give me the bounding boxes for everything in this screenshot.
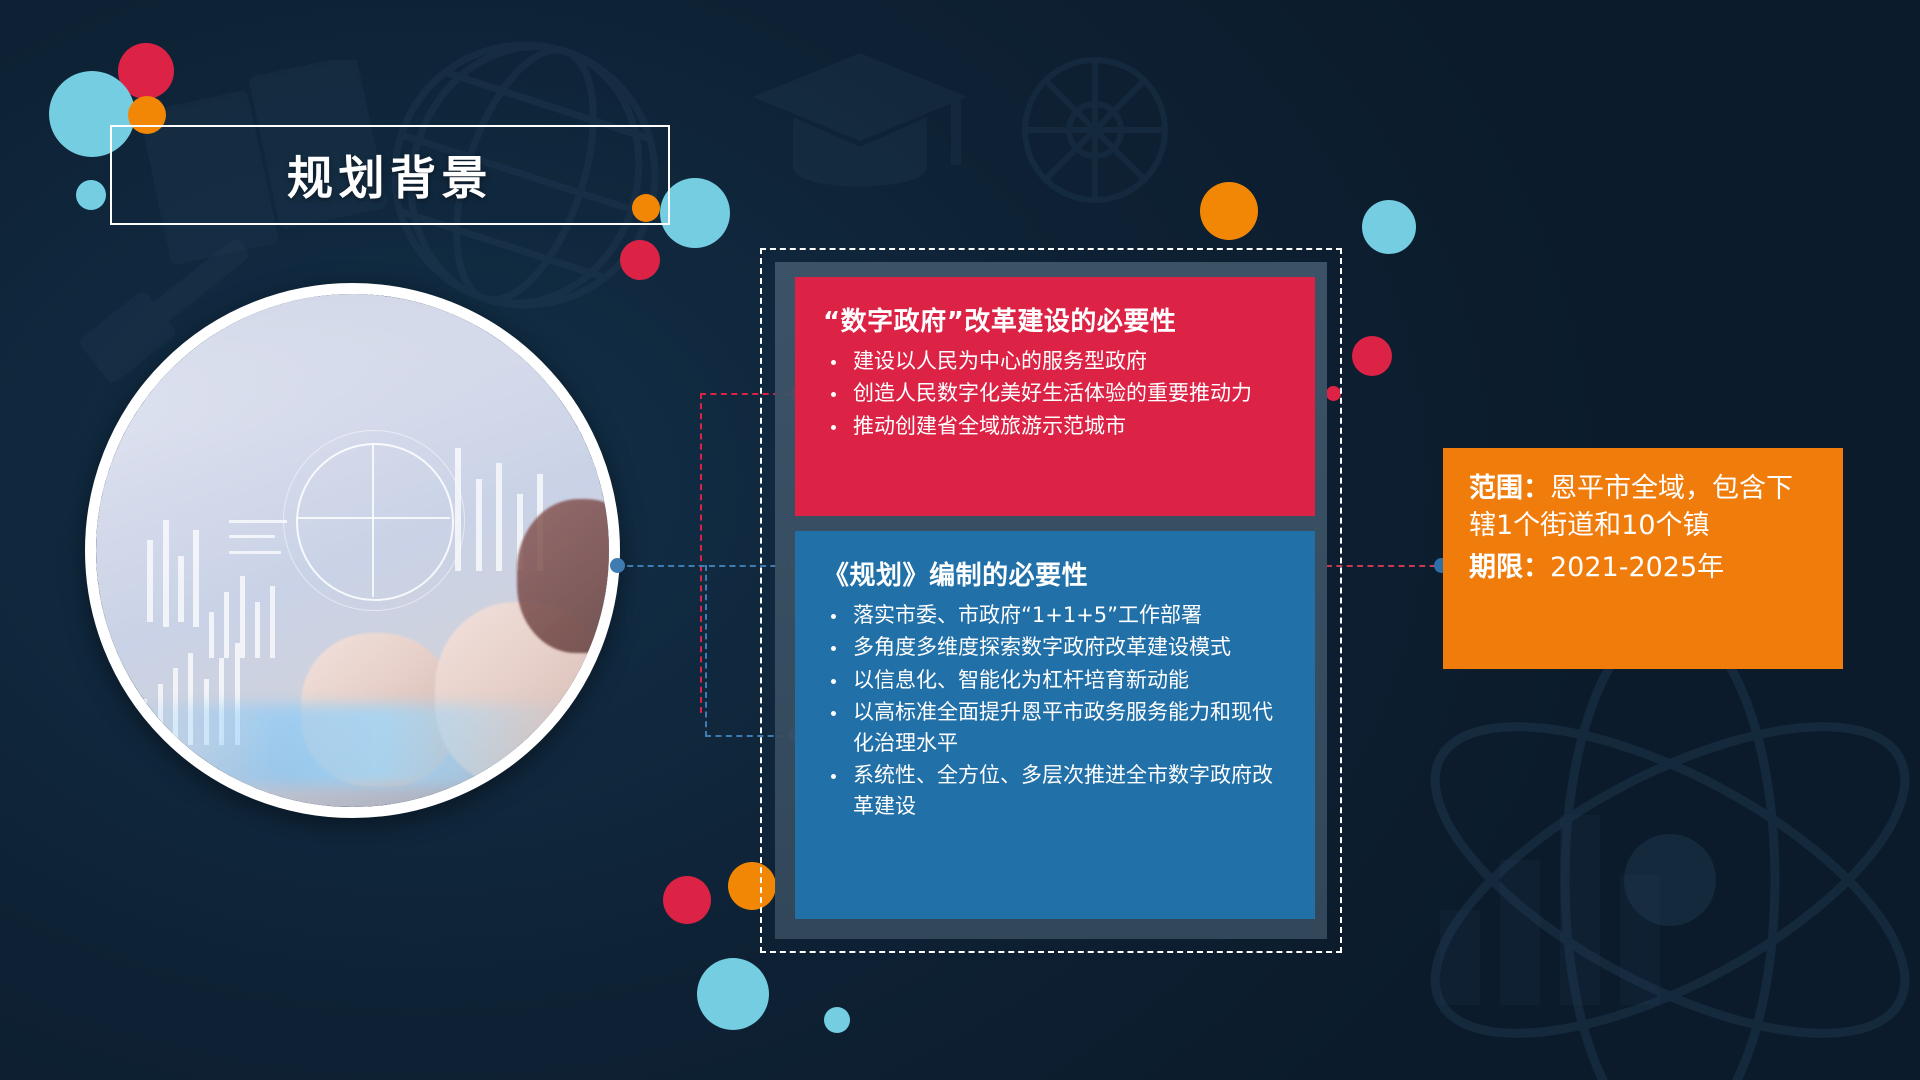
- connector-blue-vertical: [705, 565, 707, 737]
- card-red-necessity[interactable]: “数字政府”改革建设的必要性 建设以人民为中心的服务型政府 创造人民数字化美好生…: [795, 277, 1315, 516]
- background-chart-bars-icon: [1420, 760, 1720, 1020]
- card-blue-bullet: 以信息化、智能化为杠杆培育新动能: [821, 665, 1289, 695]
- connector-orange-line: [1326, 565, 1446, 567]
- decor-dot-red-2: [620, 240, 660, 280]
- hero-photo-image: [96, 294, 609, 807]
- background-network-icon: [990, 30, 1200, 230]
- slide-canvas: 规划背景: [0, 0, 1920, 1080]
- decor-dot-red-3: [1352, 336, 1392, 376]
- connector-dot-blue-photo: [610, 558, 625, 573]
- card-blue-bullet: 落实市委、市政府“1+1+5”工作部署: [821, 600, 1289, 630]
- scope-line: 范围：恩平市全域，包含下辖1个街道和10个镇: [1469, 470, 1817, 545]
- card-red-title: “数字政府”改革建设的必要性: [823, 301, 1289, 338]
- term-label: 期限：: [1469, 552, 1550, 583]
- decor-dot-cyan-3: [660, 178, 730, 248]
- decor-dot-cyan-4: [1362, 200, 1416, 254]
- decor-dot-cyan-6: [824, 1007, 850, 1033]
- connector-red-vertical: [700, 393, 702, 713]
- card-blue-bullet: 多角度多维度探索数字政府改革建设模式: [821, 632, 1289, 662]
- page-title: 规划背景: [110, 125, 670, 225]
- card-red-bullet: 创造人民数字化美好生活体验的重要推动力: [821, 378, 1289, 408]
- card-orange-scope[interactable]: 范围：恩平市全域，包含下辖1个街道和10个镇 期限：2021-2025年: [1443, 448, 1843, 669]
- term-value: 2021-2025年: [1550, 552, 1724, 583]
- hero-photo-circle: [85, 283, 620, 818]
- card-red-bullet-list: 建设以人民为中心的服务型政府 创造人民数字化美好生活体验的重要推动力 推动创建省…: [821, 346, 1289, 441]
- card-blue-title: 《规划》编制的必要性: [823, 555, 1289, 592]
- scope-label: 范围：: [1469, 473, 1550, 504]
- background-graduation-cap-icon: [745, 35, 975, 225]
- card-red-bullet: 建设以人民为中心的服务型政府: [821, 346, 1289, 376]
- decor-dot-cyan-2: [76, 180, 106, 210]
- decor-dot-red-4: [663, 876, 711, 924]
- card-blue-necessity[interactable]: 《规划》编制的必要性 落实市委、市政府“1+1+5”工作部署 多角度多维度探索数…: [795, 531, 1315, 919]
- decor-dot-cyan-5: [697, 958, 769, 1030]
- card-blue-bullet-list: 落实市委、市政府“1+1+5”工作部署 多角度多维度探索数字政府改革建设模式 以…: [821, 600, 1289, 821]
- card-blue-bullet: 以高标准全面提升恩平市政务服务能力和现代化治理水平: [821, 697, 1289, 758]
- card-red-bullet: 推动创建省全域旅游示范城市: [821, 411, 1289, 441]
- term-line: 期限：2021-2025年: [1469, 549, 1817, 586]
- card-blue-bullet: 系统性、全方位、多层次推进全市数字政府改革建设: [821, 760, 1289, 821]
- decor-dot-orange-3: [1200, 182, 1258, 240]
